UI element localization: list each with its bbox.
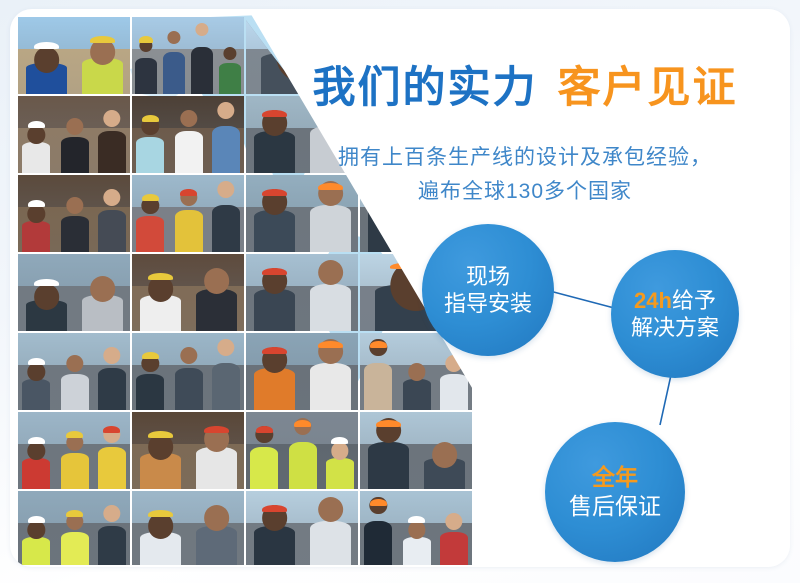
collage-photo (132, 333, 244, 410)
photo-person (212, 126, 240, 173)
collage-photo (18, 412, 130, 489)
photo-person (98, 210, 126, 252)
promo-card: 我们的实力客户见证 拥有上百条生产线的设计及承包经验， 遍布全球130多个国家 … (10, 9, 790, 567)
photo-person (289, 442, 317, 489)
collage-photo (132, 175, 244, 252)
photo-person (175, 131, 203, 173)
collage-photo-image (246, 333, 358, 410)
photo-person (61, 216, 89, 252)
photo-hardhat (180, 189, 197, 196)
collage-photo-image (18, 254, 130, 331)
collage-photo-image (18, 96, 130, 173)
photo-person (440, 532, 468, 567)
photo-hardhat (256, 426, 273, 433)
bubble-24h-solution: 24h给予 解决方案 (611, 250, 739, 378)
photo-person (364, 521, 392, 567)
collage-photo (246, 333, 358, 410)
photo-person (196, 289, 237, 331)
photo-hardhat (28, 358, 45, 365)
collage-photo-image (18, 491, 130, 567)
photo-person (403, 379, 431, 410)
photo-hardhat (408, 516, 425, 523)
photo-person (26, 300, 67, 331)
photo-hardhat (34, 42, 60, 49)
photo-person (61, 532, 89, 567)
photo-hardhat (139, 36, 152, 43)
page-title: 我们的实力客户见证 (275, 53, 775, 115)
photo-person (212, 363, 240, 410)
photo-person (368, 205, 409, 252)
photo-person (191, 47, 212, 94)
headline-primary: 我们的实力 (313, 64, 538, 112)
photo-person (98, 131, 126, 173)
photo-hardhat (148, 273, 174, 280)
page-subtitle: 拥有上百条生产线的设计及承包经验， 遍布全球130多个国家 (275, 141, 775, 209)
photo-hardhat (142, 352, 159, 359)
photo-person (22, 458, 50, 489)
collage-photo-image (132, 175, 244, 252)
photo-person (196, 447, 237, 489)
photo-person (140, 453, 181, 489)
photo-person (98, 447, 126, 489)
photo-person (26, 63, 67, 94)
photo-person (310, 521, 351, 567)
bubble-2-line-2: 解决方案 (631, 314, 719, 342)
photo-person (326, 458, 354, 489)
photo-person (424, 458, 465, 489)
photo-person (175, 210, 203, 252)
collage-photo-image (132, 96, 244, 173)
bubble-2-line-1: 24h给予 (634, 287, 716, 315)
bubble-1-line-1: 现场 (466, 263, 510, 291)
photo-hardhat (376, 420, 402, 427)
photo-person (140, 295, 181, 331)
photo-person (61, 453, 89, 489)
collage-photo-image (18, 412, 130, 489)
photo-person (98, 526, 126, 567)
collage-photo (360, 412, 472, 489)
photo-person (440, 374, 468, 410)
photo-person (163, 52, 184, 94)
photo-person (254, 526, 295, 567)
photo-person (250, 447, 278, 489)
photo-person (136, 137, 164, 173)
collage-photo-image (246, 412, 358, 489)
bubble-3-line-2: 售后保证 (569, 492, 661, 521)
collage-photo-image (360, 412, 472, 489)
photo-person (219, 63, 240, 94)
collage-photo-image (132, 491, 244, 567)
collage-photo-image (132, 17, 244, 94)
bubble-on-site-installation: 现场 指导安装 (422, 224, 554, 356)
bubble-1-line-2: 指导安装 (444, 290, 532, 318)
bubble-full-year-warranty: 全年 售后保证 (545, 422, 685, 562)
photo-person (135, 58, 156, 94)
photo-hardhat (262, 268, 288, 275)
bubble-2-line-1-rest: 给予 (672, 288, 716, 313)
photo-hardhat (142, 115, 159, 122)
photo-hardhat (148, 510, 174, 517)
collage-photo-image (132, 333, 244, 410)
photo-person (82, 295, 123, 331)
collage-photo-image (246, 491, 358, 567)
photo-person (22, 221, 50, 252)
photo-person (22, 379, 50, 410)
photo-hardhat (34, 279, 60, 286)
photo-hardhat (28, 200, 45, 207)
collage-photo (246, 491, 358, 567)
headline-secondary: 客户见证 (558, 64, 738, 112)
photo-person (22, 537, 50, 567)
photo-person (254, 210, 295, 252)
photo-person (140, 532, 181, 567)
photo-hardhat (318, 341, 344, 348)
photo-hardhat (66, 510, 83, 517)
photo-hardhat (90, 36, 116, 43)
photo-person (136, 374, 164, 410)
photo-hardhat (331, 437, 348, 444)
collage-photo (132, 491, 244, 567)
photo-hardhat (103, 426, 120, 433)
photo-hardhat (66, 431, 83, 438)
collage-photo (132, 17, 244, 94)
photo-person (212, 205, 240, 252)
photo-person (98, 368, 126, 410)
collage-photo (132, 254, 244, 331)
photo-person (82, 58, 123, 94)
photo-hardhat (28, 437, 45, 444)
collage-photo (18, 254, 130, 331)
photo-person (175, 368, 203, 410)
collage-photo (360, 491, 472, 567)
collage-photo (132, 412, 244, 489)
collage-photo-image (18, 333, 130, 410)
collage-photo-image (132, 412, 244, 489)
collage-photo-image (18, 17, 130, 94)
collage-photo (246, 254, 358, 331)
photo-hardhat (28, 121, 45, 128)
photo-person (254, 368, 295, 410)
collage-photo (18, 96, 130, 173)
collage-photo (18, 17, 130, 94)
photo-hardhat (142, 194, 159, 201)
promo-banner: 我们的实力客户见证 拥有上百条生产线的设计及承包经验， 遍布全球130多个国家 … (0, 0, 800, 583)
collage-photo (246, 412, 358, 489)
subtitle-line-1: 拥有上百条生产线的设计及承包经验， (275, 141, 775, 175)
collage-photo (18, 175, 130, 252)
photo-hardhat (148, 431, 174, 438)
bubble-3-line-1: 全年 (592, 463, 638, 492)
photo-hardhat (262, 347, 288, 354)
photo-person (310, 284, 351, 331)
photo-person (61, 137, 89, 173)
photo-person (310, 363, 351, 410)
photo-person (403, 537, 431, 567)
photo-hardhat (370, 499, 387, 506)
bubble-2-accent: 24h (634, 288, 672, 313)
photo-hardhat (262, 505, 288, 512)
collage-photo (18, 491, 130, 567)
collage-photo-image (18, 175, 130, 252)
photo-person (22, 142, 50, 173)
photo-hardhat (204, 426, 230, 433)
collage-photo-image (246, 254, 358, 331)
photo-hardhat (376, 25, 402, 32)
photo-hardhat (276, 31, 327, 38)
photo-person (364, 363, 392, 410)
photo-person (368, 442, 409, 489)
collage-photo-image (360, 491, 472, 567)
photo-person (136, 216, 164, 252)
photo-hardhat (294, 420, 311, 427)
photo-person (61, 374, 89, 410)
collage-photo (18, 333, 130, 410)
collage-photo (132, 96, 244, 173)
photo-background (360, 17, 472, 52)
photo-person (254, 289, 295, 331)
photo-background (246, 17, 358, 52)
subtitle-line-2: 遍布全球130多个国家 (275, 175, 775, 209)
collage-photo-image (132, 254, 244, 331)
photo-hardhat (370, 341, 387, 348)
photo-person (310, 205, 351, 252)
photo-hardhat (28, 516, 45, 523)
photo-person (196, 526, 237, 567)
